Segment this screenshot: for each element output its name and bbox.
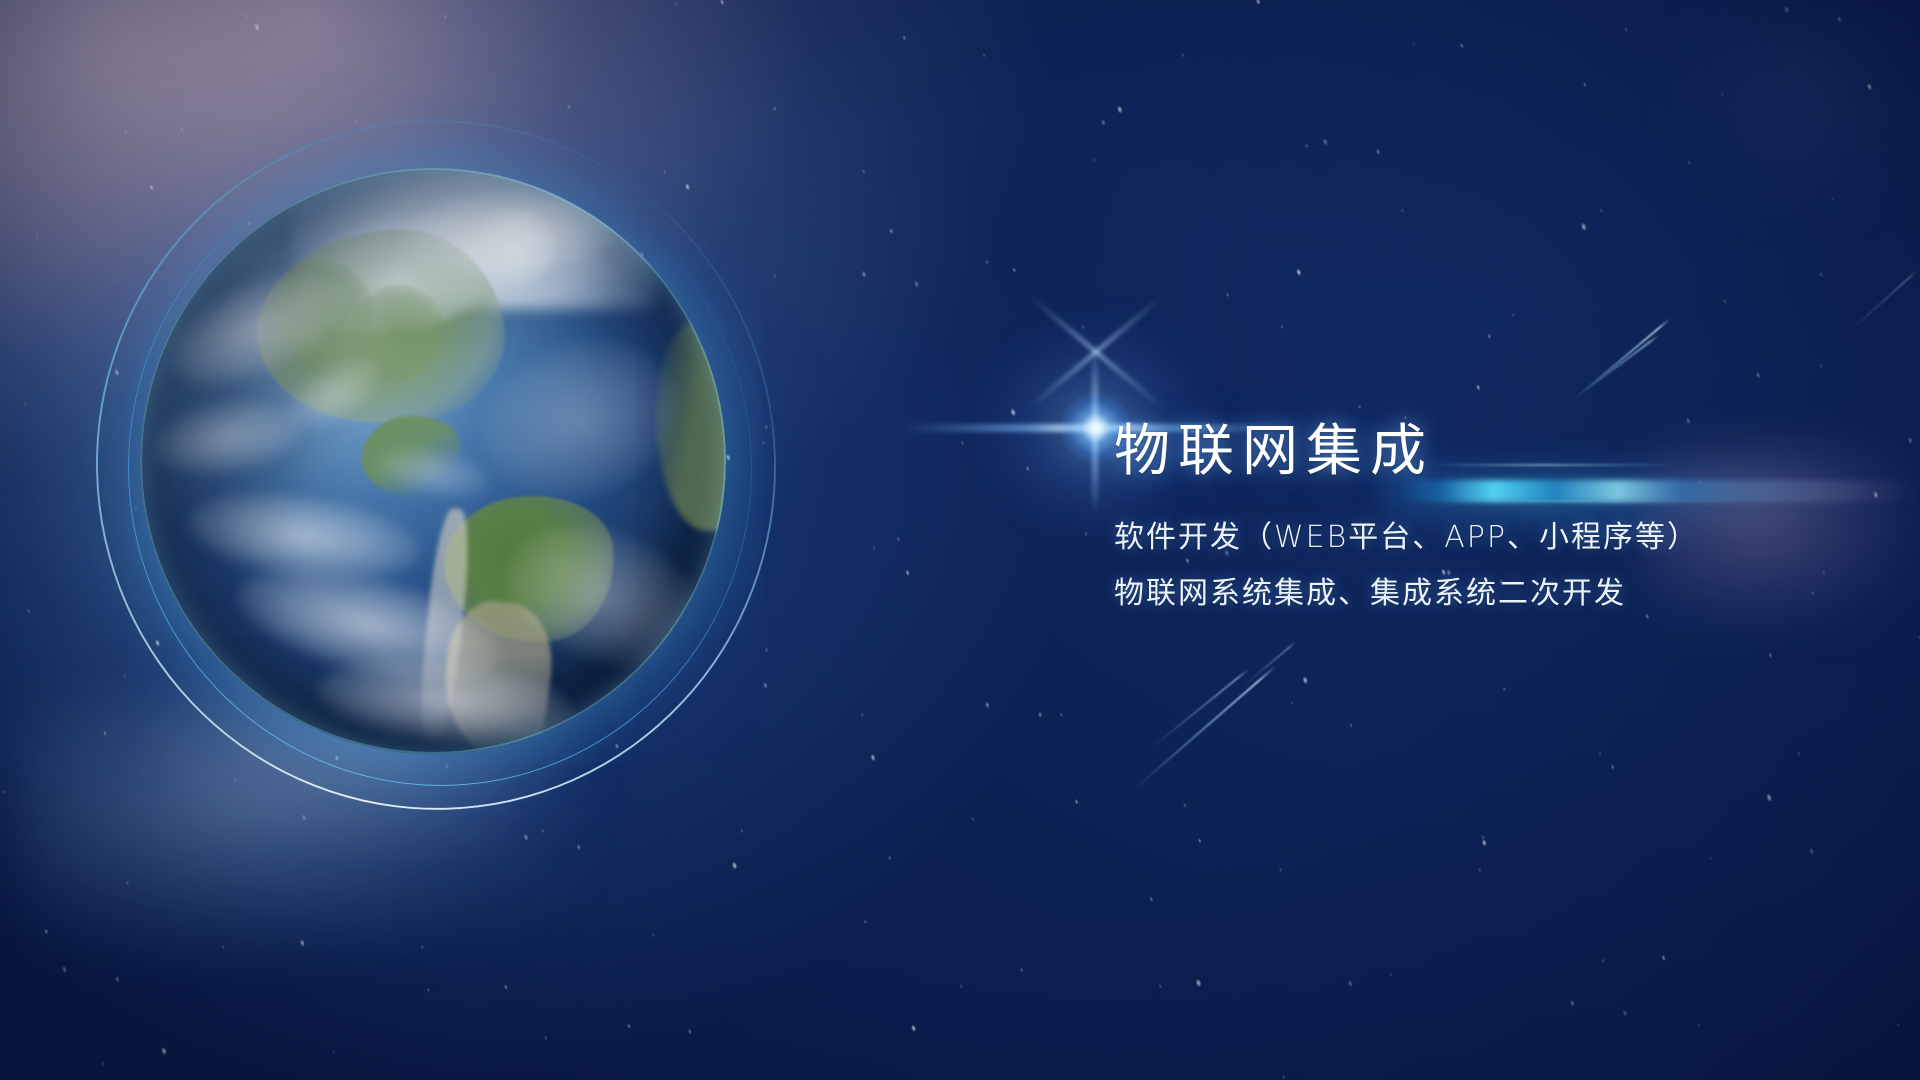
page-title: 物联网集成 bbox=[1114, 418, 1874, 486]
earth-globe bbox=[140, 168, 726, 754]
landmass-greenland bbox=[474, 209, 556, 285]
pink-glow-top-right bbox=[1660, 10, 1920, 230]
meteor-streak bbox=[1581, 334, 1659, 393]
banner-subtitle-group: 软件开发（WEB平台、APP、小程序等） 物联网系统集成、集成系统二次开发 bbox=[1114, 510, 1874, 622]
banner-subtitle-line-1: 软件开发（WEB平台、APP、小程序等） bbox=[1114, 510, 1874, 566]
meteor-streak bbox=[1131, 666, 1276, 792]
lens-flare-ray-vertical bbox=[1092, 344, 1098, 514]
meteor-streak bbox=[1241, 641, 1296, 688]
cloud-band bbox=[182, 480, 426, 594]
banner-subtitle-line-2: 物联网系统集成、集成系统二次开发 bbox=[1114, 566, 1874, 622]
lens-flare-ray-diagonal-a bbox=[1029, 295, 1163, 409]
globe-sphere bbox=[140, 168, 726, 754]
meteor-streak bbox=[1149, 668, 1250, 750]
landmass-africa-edge bbox=[656, 320, 726, 531]
meteor-streak bbox=[1571, 318, 1670, 402]
lens-flare-ray-diagonal-b bbox=[1029, 295, 1163, 409]
meteor-streak bbox=[1849, 270, 1917, 332]
banner-text-block: 物联网集成 软件开发（WEB平台、APP、小程序等） 物联网系统集成、集成系统二… bbox=[1114, 418, 1874, 622]
hero-banner: 物联网集成 软件开发（WEB平台、APP、小程序等） 物联网系统集成、集成系统二… bbox=[0, 0, 1920, 1080]
cloud-band bbox=[147, 390, 309, 486]
landmass-north-america-east bbox=[351, 285, 445, 379]
